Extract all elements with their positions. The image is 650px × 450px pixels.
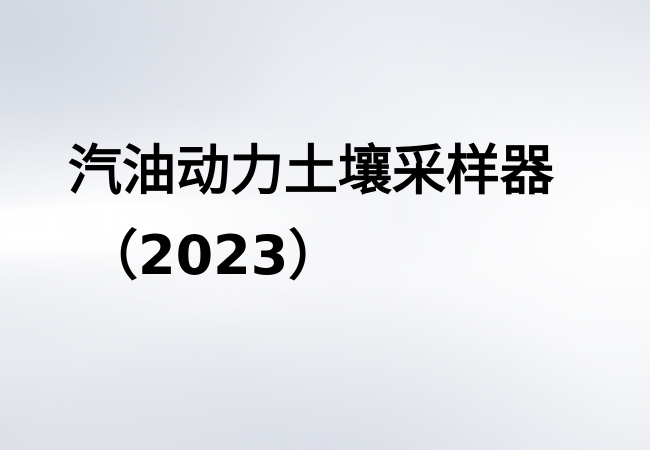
slide-canvas: 汽油动力土壤采样器 （2023） [0, 0, 650, 450]
background-vignette [0, 0, 650, 450]
